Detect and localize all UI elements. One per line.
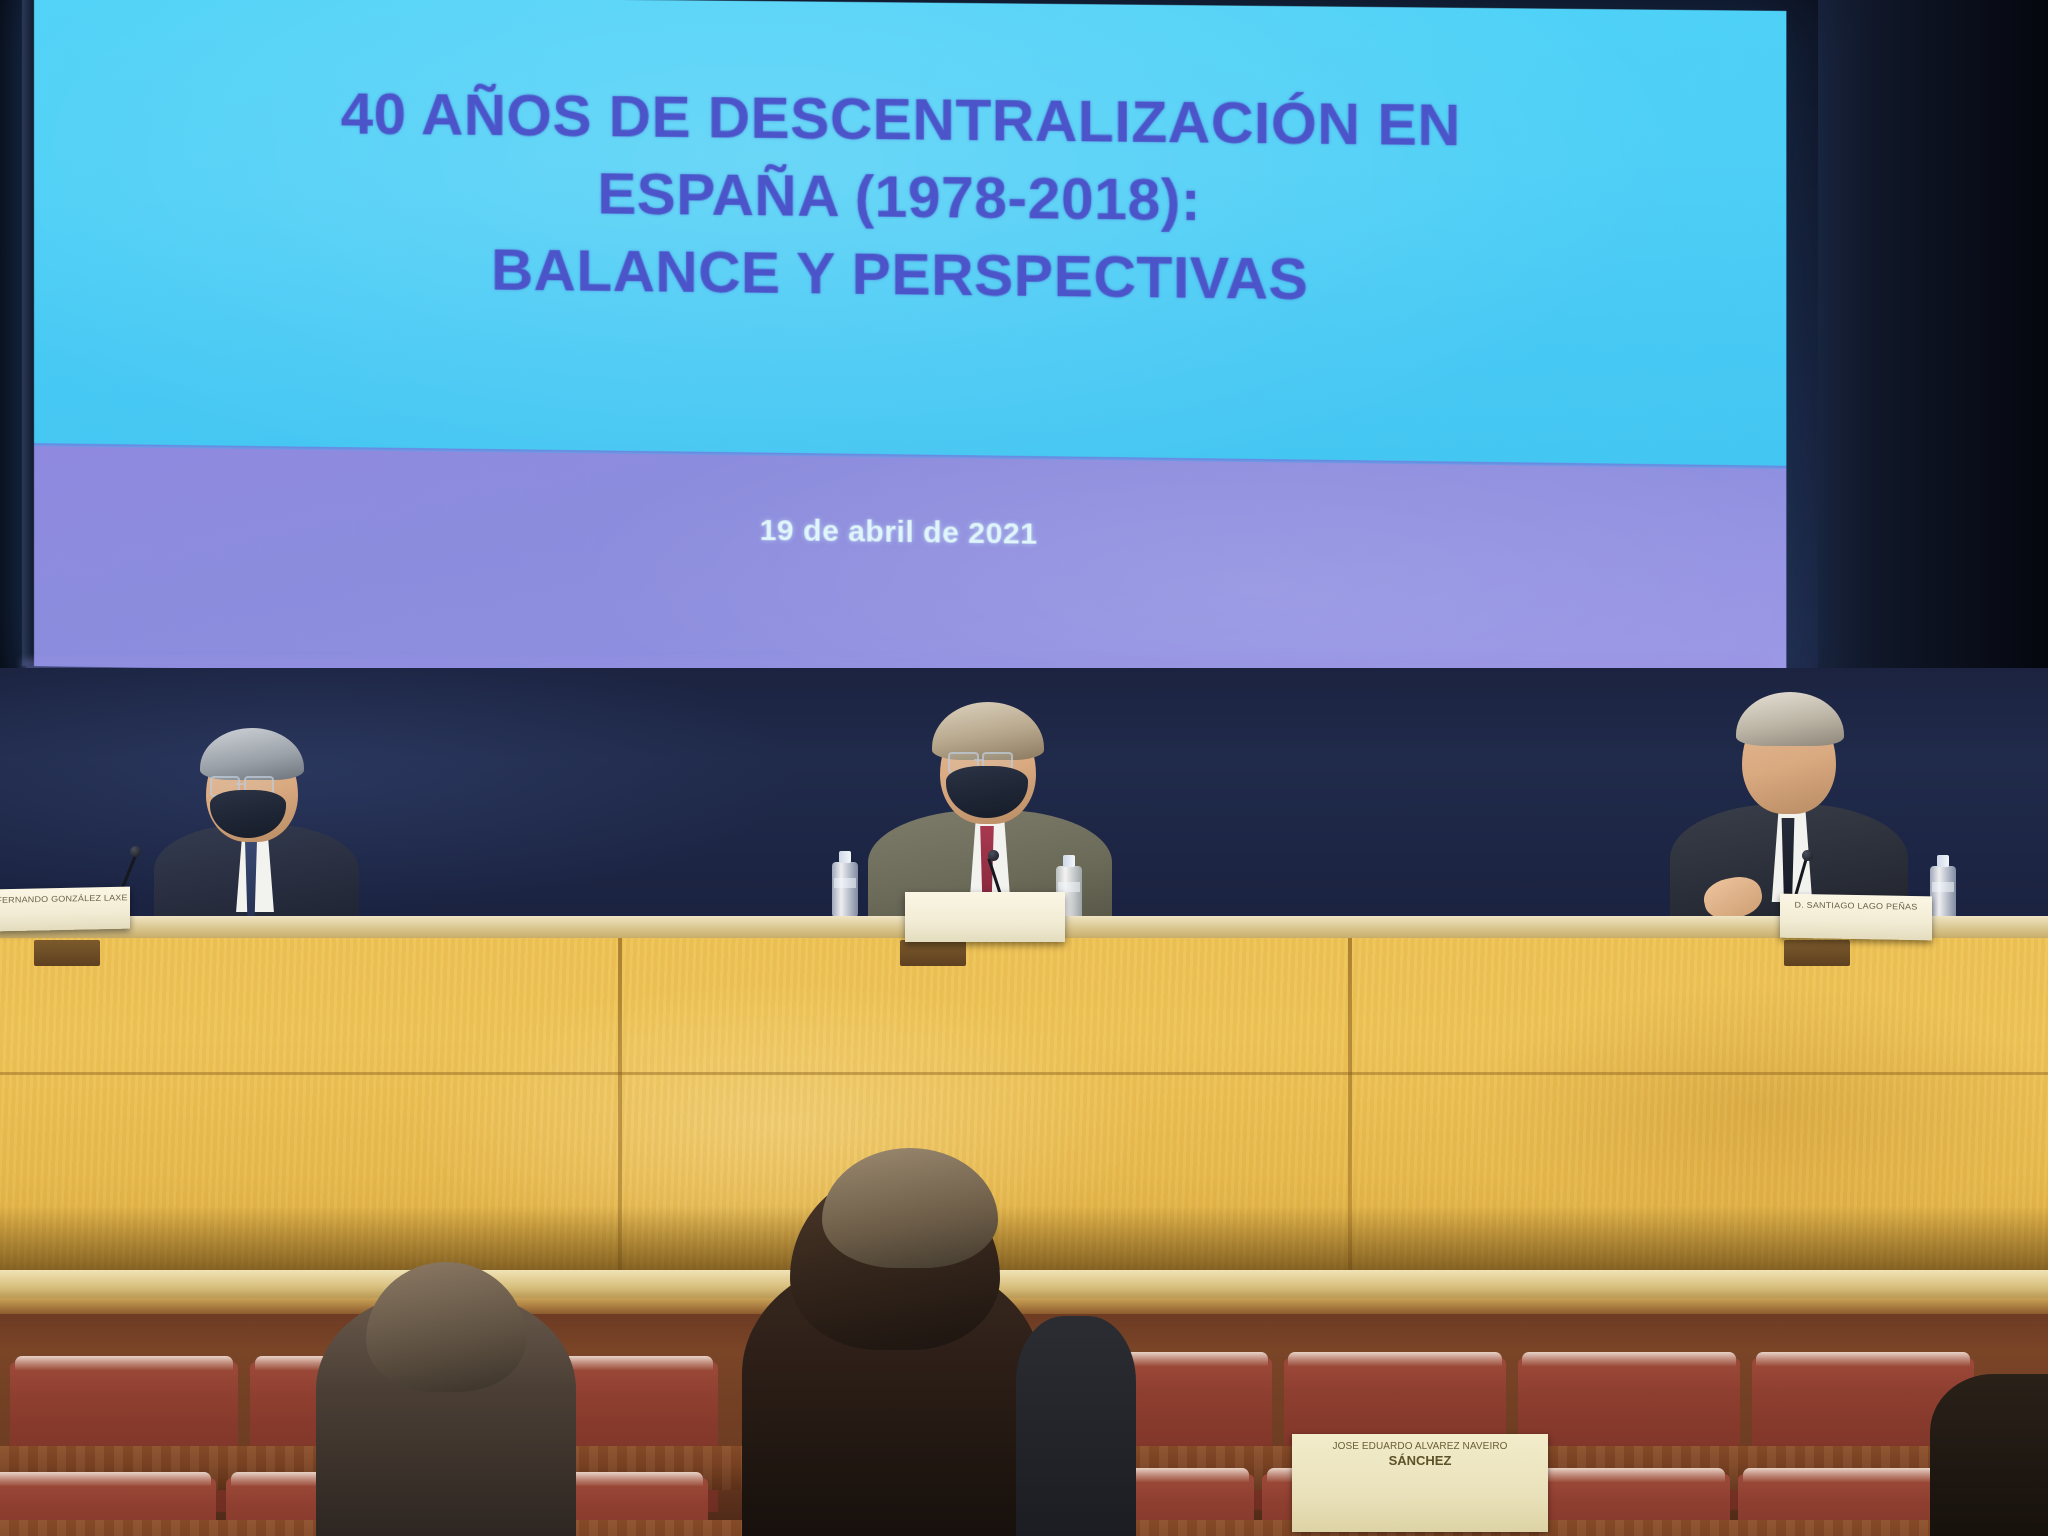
speaker-left-hair xyxy=(200,728,304,780)
panel-table xyxy=(0,916,2048,1276)
reserved-sign-line-1: JOSE EDUARDO ALVAREZ NAVEIRO xyxy=(1292,1441,1548,1452)
slide-lower-band xyxy=(22,446,1786,692)
table-horizontal-groove xyxy=(0,1072,2048,1075)
wall-right-shadow xyxy=(1818,0,2048,690)
table-cable-notch-2 xyxy=(900,940,966,966)
audience-member-3-shoulder xyxy=(1016,1316,1136,1536)
reserved-seat-sign: JOSE EDUARDO ALVAREZ NAVEIRO SÁNCHEZ xyxy=(1292,1434,1548,1532)
microphone-head-center xyxy=(988,850,999,861)
stage-front-ledge xyxy=(0,1270,2048,1300)
water-bottle-left[interactable] xyxy=(832,862,858,920)
nameplate-right: D. SANTIAGO LAGO PEÑAS xyxy=(1780,894,1932,941)
audience-member-4-shoulder xyxy=(1930,1374,2048,1536)
table-cable-notch-1 xyxy=(34,940,100,966)
nameplate-center xyxy=(905,892,1065,942)
reserved-sign-line-2: SÁNCHEZ xyxy=(1292,1453,1548,1468)
speaker-left-glasses-bridge xyxy=(236,783,245,785)
microphone-head-left xyxy=(130,846,141,857)
speaker-right-hair xyxy=(1736,692,1844,746)
photograph-canvas: 40 AÑOS DE DESCENTRALIZACIÓN EN ESPAÑA (… xyxy=(0,0,2048,1536)
nameplate-right-text: D. SANTIAGO LAGO PEÑAS xyxy=(1795,895,1918,913)
slide-title: 40 AÑOS DE DESCENTRALIZACIÓN EN ESPAÑA (… xyxy=(22,72,1786,324)
nameplate-left: FERNANDO GONZÁLEZ LAXE xyxy=(0,887,130,932)
speaker-left xyxy=(140,728,370,928)
stage-front-ledge-shadow xyxy=(0,1298,2048,1314)
table-cable-notch-3 xyxy=(1784,940,1850,966)
speaker-center-glasses-bridge xyxy=(974,759,983,761)
table-bottom-shadow xyxy=(0,1206,2048,1276)
nameplate-left-text: FERNANDO GONZÁLEZ LAXE xyxy=(0,887,128,906)
screen-left-bezel xyxy=(22,0,34,666)
projection-screen: 40 AÑOS DE DESCENTRALIZACIÓN EN ESPAÑA (… xyxy=(22,0,1786,692)
microphone-head-right xyxy=(1802,850,1813,861)
